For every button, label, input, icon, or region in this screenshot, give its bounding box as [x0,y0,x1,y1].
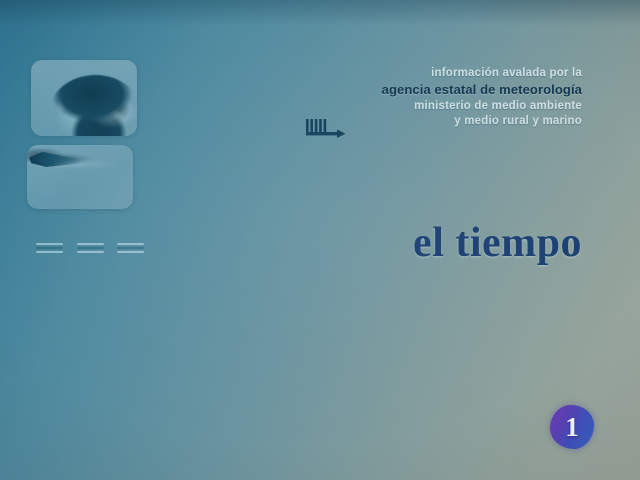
credit-line-2: agencia estatal de meteorología [302,81,582,98]
list-glyph-row [36,238,144,258]
credit-line-1: información avalada por la [302,66,582,81]
glyph-line [36,243,63,245]
glyph-line [77,243,104,245]
channel-number: 1 [565,414,579,441]
list-glyph-2 [77,243,104,253]
glyph-line [77,251,104,253]
credits-block: información avalada por la agencia estat… [302,66,582,129]
glyph-line [77,247,104,249]
list-glyph-1 [36,243,63,253]
glyph-line [36,251,63,253]
credit-line-3: ministerio de medio ambiente [302,99,582,114]
program-title: el tiempo [413,219,582,267]
glyph-line [36,247,63,249]
top-shadow-band [0,0,640,26]
channel-logo-badge: 1 [550,405,594,449]
glyph-line [117,243,144,245]
globe-satellite-thumbnail [31,60,137,136]
cloud-map-thumbnail [27,145,133,209]
globe-sphere [50,75,137,136]
credit-line-4: y medio rural y marino [302,114,582,129]
tv-bumper-screen: información avalada por la agencia estat… [0,0,640,480]
glyph-line [117,251,144,253]
list-glyph-3 [117,243,144,253]
glyph-line [117,247,144,249]
